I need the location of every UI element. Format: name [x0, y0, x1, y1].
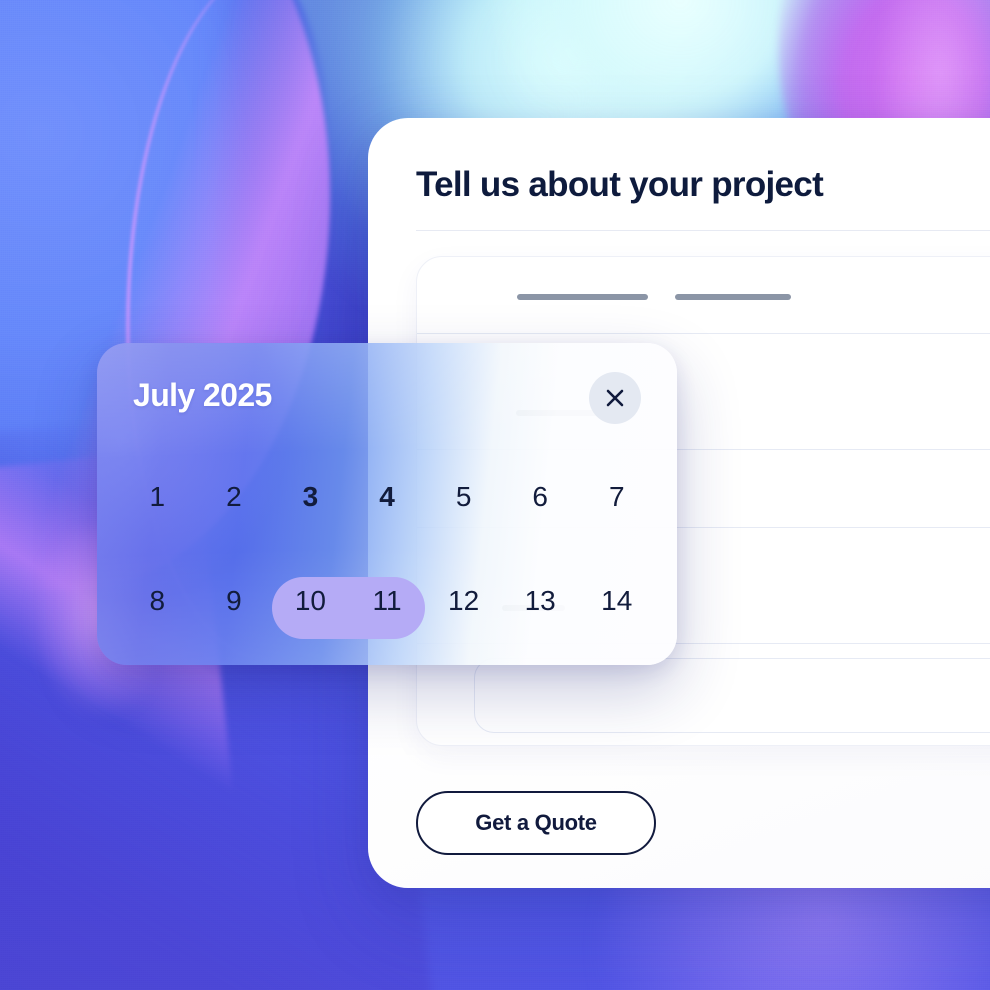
calendar-day-selected-start[interactable]: 3: [272, 467, 349, 527]
get-a-quote-button[interactable]: Get a Quote: [416, 791, 656, 855]
calendar-day[interactable]: 2: [196, 467, 273, 527]
calendar-day[interactable]: 12: [425, 571, 502, 631]
calendar-day[interactable]: 11: [349, 571, 426, 631]
calendar-week-row: 8 9 10 11 12 13 14: [119, 571, 655, 631]
placeholder-bar: [517, 294, 648, 300]
calendar-day[interactable]: 7: [578, 467, 655, 527]
calendar-day-grid: 1 2 3 4 5 6 7 8 9 10 11 12 13 14: [97, 453, 677, 653]
calendar-month-title: July 2025: [133, 377, 272, 414]
calendar-day[interactable]: 5: [425, 467, 502, 527]
calendar-day[interactable]: 6: [502, 467, 579, 527]
page-title: Tell us about your project: [416, 165, 823, 205]
calendar-week-row: 1 2 3 4 5 6 7: [119, 467, 655, 527]
calendar-close-button[interactable]: [589, 372, 641, 424]
calendar-day[interactable]: 14: [578, 571, 655, 631]
calendar-day[interactable]: 1: [119, 467, 196, 527]
field-divider: [417, 333, 990, 334]
calendar-day[interactable]: 9: [196, 571, 273, 631]
close-x-icon: [603, 386, 627, 410]
placeholder-bar: [675, 294, 791, 300]
calendar-day[interactable]: 8: [119, 571, 196, 631]
calendar-day[interactable]: 13: [502, 571, 579, 631]
calendar-day-selected-end[interactable]: 4: [349, 467, 426, 527]
date-picker-popup: July 2025 1 2 3 4 5 6 7 8 9 10 11 12 13 …: [97, 343, 677, 665]
notes-input-box[interactable]: [474, 658, 990, 733]
title-divider: [416, 230, 990, 231]
calendar-day[interactable]: 10: [272, 571, 349, 631]
